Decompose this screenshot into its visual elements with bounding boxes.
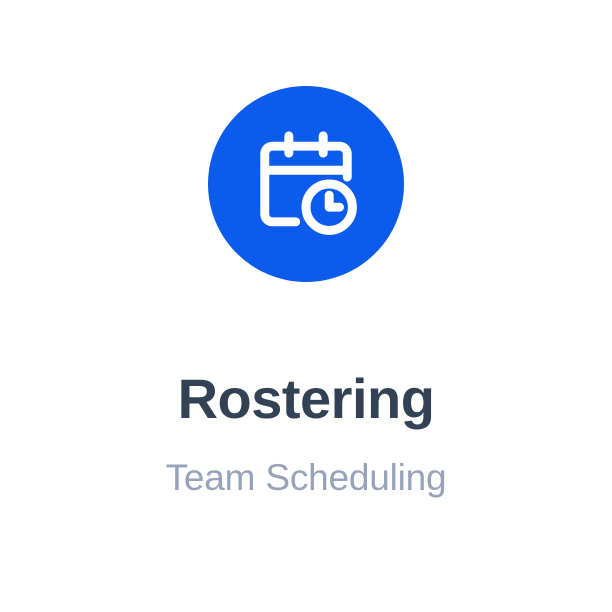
calendar-clock-icon-badge <box>208 86 404 282</box>
card-text-block: Rostering Team Scheduling <box>0 368 612 499</box>
calendar-clock-icon <box>251 129 361 239</box>
rostering-app-tile[interactable]: Rostering Team Scheduling <box>0 0 612 612</box>
icon-badge-container <box>0 86 612 282</box>
page-title: Rostering <box>0 368 612 431</box>
card-subtitle: Team Scheduling <box>0 457 612 500</box>
